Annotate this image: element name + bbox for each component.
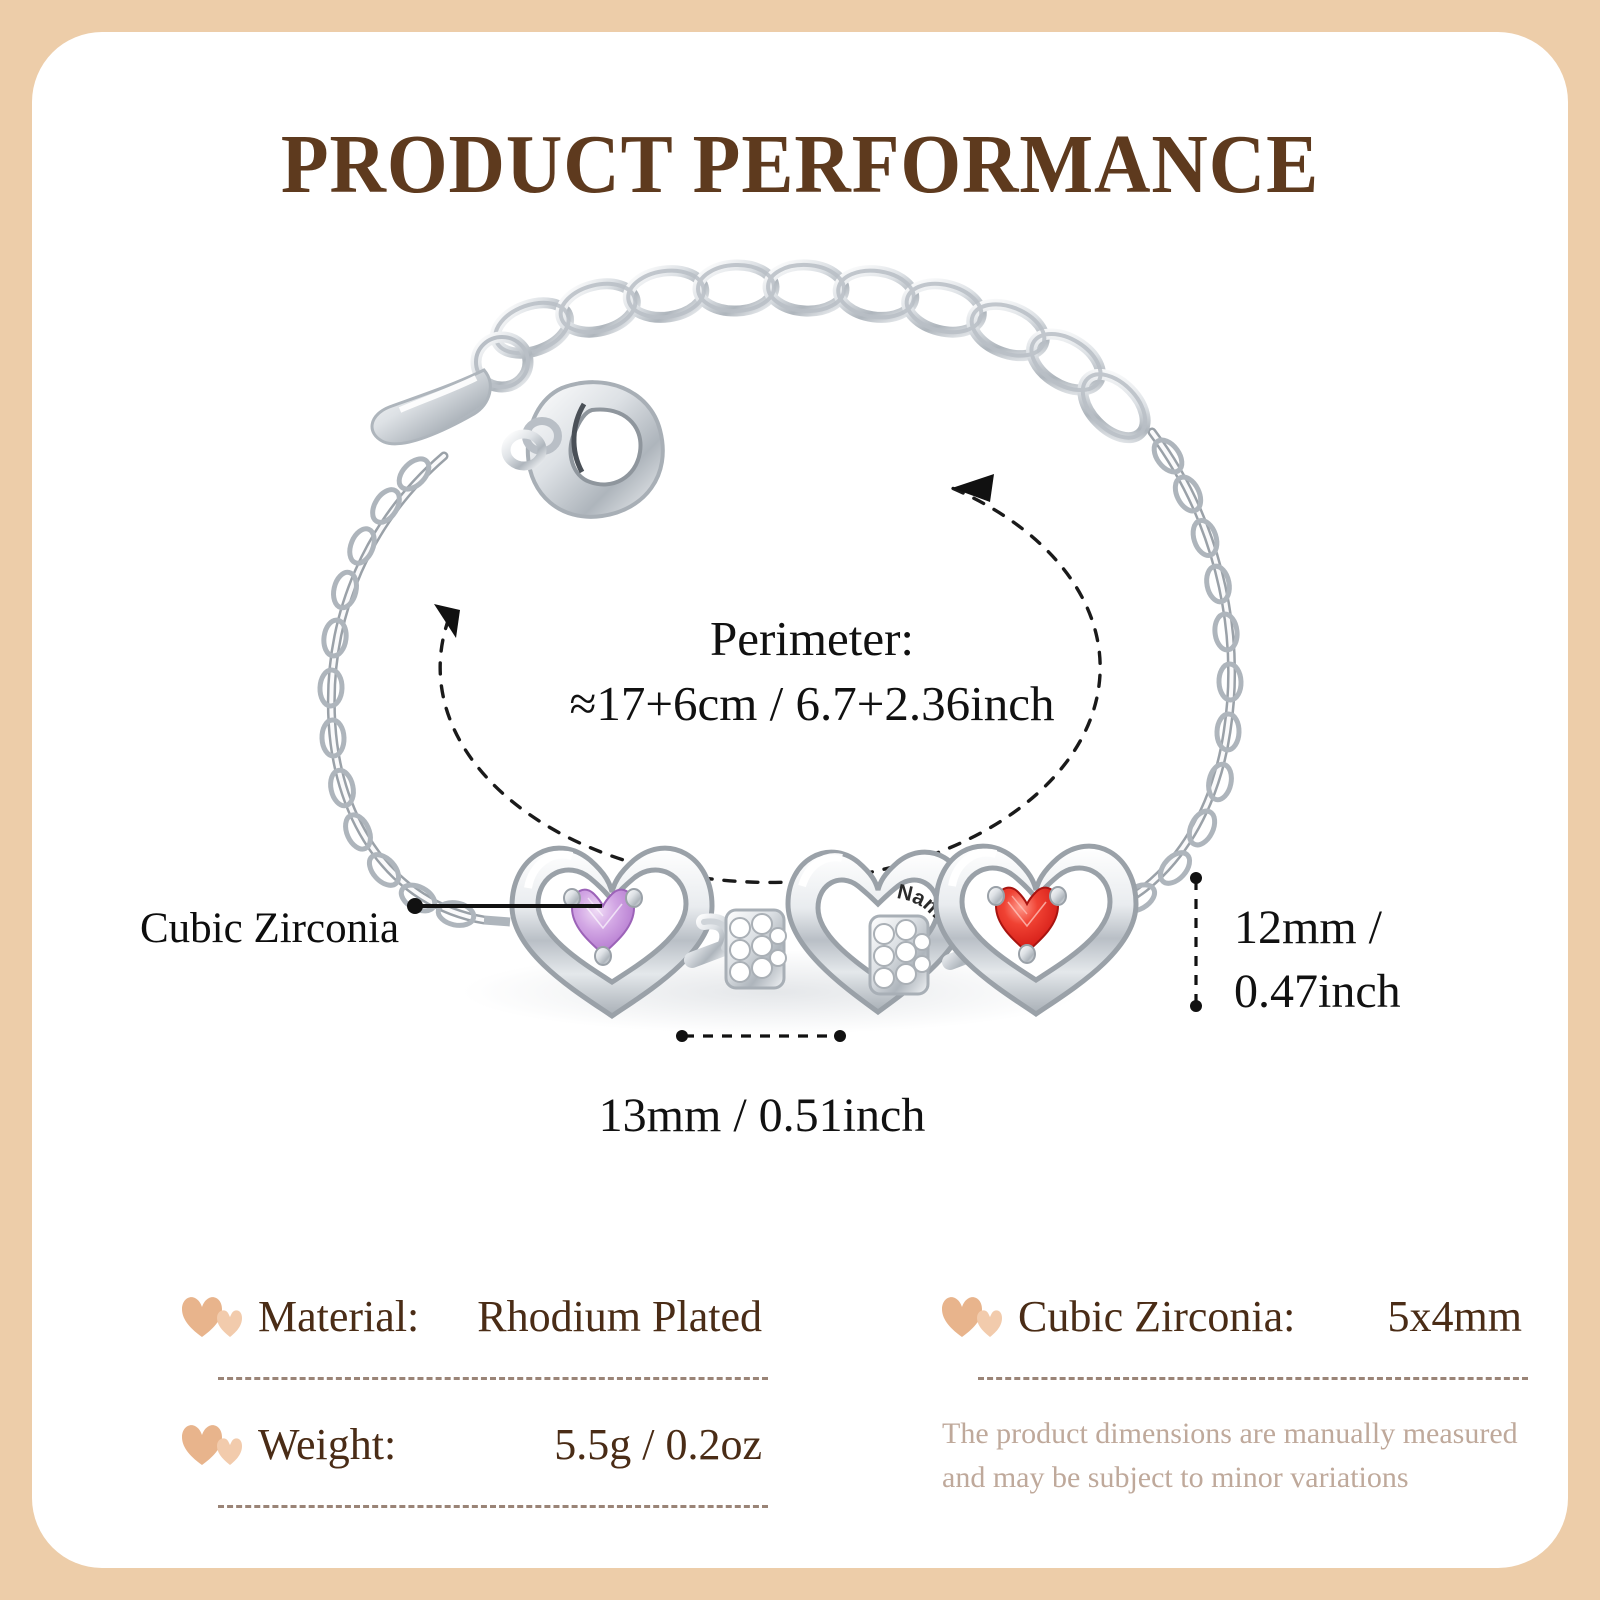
- chain-left: [319, 453, 484, 928]
- lobster-clasp: [506, 382, 663, 517]
- spec-table: Material: Rhodium Plated Cubic Zirconia:: [172, 1270, 1502, 1526]
- perimeter-annotation: Perimeter: ≈17+6cm / 6.7+2.36inch: [462, 607, 1162, 736]
- height-dimension-label: 12mm / 0.47inch: [1234, 896, 1401, 1025]
- content-card: PRODUCT PERFORMANCE: [32, 32, 1568, 1568]
- spec-gutter: [772, 1398, 932, 1526]
- spec-key: Material:: [258, 1291, 419, 1342]
- double-heart-icon: [180, 1293, 242, 1339]
- pave-barrel-right: [870, 916, 930, 994]
- width-dimension-label: 13mm / 0.51inch: [552, 1088, 972, 1143]
- double-heart-icon: [940, 1293, 1002, 1339]
- height-dimension: [1190, 872, 1202, 1012]
- infographic-page: PRODUCT PERFORMANCE: [0, 0, 1600, 1600]
- disclaimer-block: The product dimensions are manually meas…: [932, 1398, 1532, 1526]
- height-label-line2: 0.47inch: [1234, 960, 1401, 1024]
- perimeter-label: Perimeter:: [462, 607, 1162, 672]
- spec-divider: [978, 1377, 1528, 1380]
- pave-barrel-left: [726, 910, 786, 988]
- perimeter-value: ≈17+6cm / 6.7+2.36inch: [462, 672, 1162, 737]
- disclaimer-line2: and may be subject to minor variations: [942, 1456, 1532, 1500]
- spec-key: Cubic Zirconia:: [1018, 1291, 1295, 1342]
- spec-value: Rhodium Plated: [477, 1291, 772, 1342]
- spec-key: Weight:: [258, 1419, 396, 1470]
- double-heart-icon: [180, 1421, 242, 1467]
- spec-divider: [218, 1377, 768, 1380]
- spec-gutter: [772, 1270, 932, 1398]
- spec-divider: [218, 1505, 768, 1508]
- spec-item-weight: Weight: 5.5g / 0.2oz: [172, 1398, 772, 1526]
- cubic-zirconia-callout-label: Cubic Zirconia: [140, 904, 399, 953]
- height-label-line1: 12mm /: [1234, 896, 1401, 960]
- spec-value: 5x4mm: [1388, 1291, 1532, 1342]
- disclaimer-line1: The product dimensions are manually meas…: [942, 1412, 1532, 1456]
- spec-item-material: Material: Rhodium Plated: [172, 1270, 772, 1398]
- spec-item-cubic-zirconia: Cubic Zirconia: 5x4mm: [932, 1270, 1532, 1398]
- spec-value: 5.5g / 0.2oz: [554, 1419, 772, 1470]
